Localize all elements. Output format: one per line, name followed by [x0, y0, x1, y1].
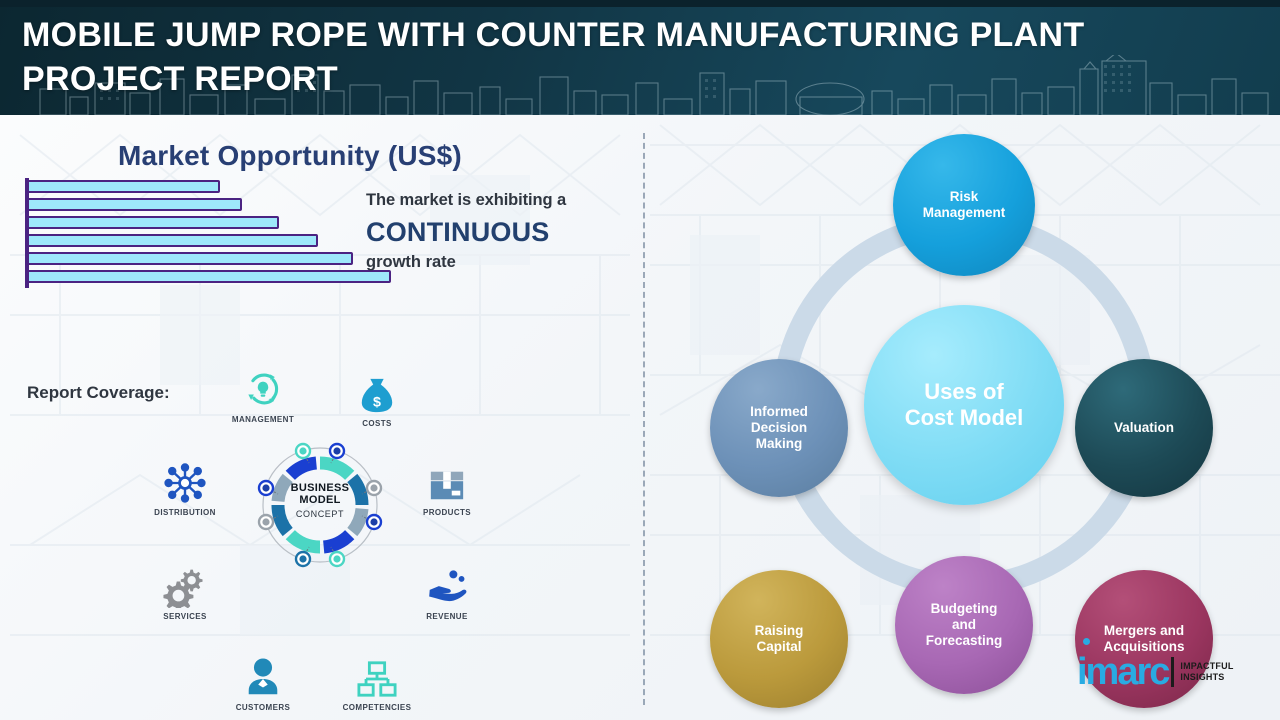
org-chart-icon — [327, 653, 427, 699]
left-panel: Market Opportunity (US$) The market is e… — [0, 115, 643, 720]
logo-dot-icon — [1083, 638, 1090, 645]
page-title: MOBILE JUMP ROPE WITH COUNTER MANUFACTUR… — [22, 14, 1142, 101]
svg-text:$: $ — [373, 394, 381, 410]
node-label-budgeting-forecasting: BudgetingandForecasting — [920, 601, 1009, 650]
recycle-bulb-icon — [213, 365, 313, 411]
bar-row — [27, 216, 279, 229]
logo-tagline-line-2: INSIGHTS — [1180, 672, 1233, 683]
bar-row — [27, 198, 242, 211]
bm-title-line-1: BUSINESS — [255, 482, 385, 494]
node-label-risk-management: RiskManagement — [917, 189, 1012, 221]
coverage-item-distribution[interactable]: DISTRIBUTION — [135, 458, 235, 517]
caption-line-3: growth rate — [366, 252, 641, 273]
market-opportunity-title: Market Opportunity (US$) — [118, 140, 462, 172]
node-label-informed-decision-making: InformedDecisionMaking — [744, 404, 814, 453]
coverage-label: COSTS — [327, 419, 427, 428]
center-node-uses-of-cost-model[interactable]: Uses of Cost Model — [864, 305, 1064, 505]
node-raising-capital[interactable]: RaisingCapital — [710, 570, 848, 708]
coverage-item-revenue[interactable]: REVENUE — [397, 562, 497, 621]
node-label-raising-capital: RaisingCapital — [749, 623, 810, 655]
center-line-2: Cost Model — [899, 405, 1030, 431]
bar-row — [27, 270, 391, 283]
money-bag-icon: $ — [327, 369, 427, 415]
coverage-label: SERVICES — [135, 612, 235, 621]
bar-row — [27, 234, 318, 247]
imarc-logo: imarc IMPACTFUL INSIGHTS — [1077, 648, 1267, 696]
node-informed-decision-making[interactable]: InformedDecisionMaking — [710, 359, 848, 497]
coverage-item-costs[interactable]: $ COSTS — [327, 369, 427, 428]
logo-tagline-line-1: IMPACTFUL — [1180, 661, 1233, 672]
report-coverage-diagram: MANAGEMENT $ COSTS — [120, 365, 520, 705]
network-nodes-icon — [135, 458, 235, 504]
coverage-label: CUSTOMERS — [213, 703, 313, 712]
node-budgeting-forecasting[interactable]: BudgetingandForecasting — [895, 556, 1033, 694]
business-model-label: BUSINESS MODEL CONCEPT — [255, 482, 385, 519]
bar-row — [27, 252, 353, 265]
uses-of-cost-model-diagram: Uses of Cost Model RiskManagement Valuat… — [643, 115, 1280, 720]
logo-tagline: IMPACTFUL INSIGHTS — [1180, 661, 1233, 684]
node-label-valuation: Valuation — [1108, 420, 1180, 436]
coverage-item-customers[interactable]: CUSTOMERS — [213, 653, 313, 712]
coverage-item-services[interactable]: SERVICES — [135, 562, 235, 621]
box-package-icon — [397, 458, 497, 504]
growth-caption: The market is exhibiting a CONTINUOUS gr… — [366, 190, 641, 273]
coverage-label: DISTRIBUTION — [135, 508, 235, 517]
market-opportunity-bar-chart — [25, 178, 425, 288]
logo-separator — [1171, 657, 1174, 687]
gears-icon — [135, 562, 235, 608]
coverage-item-competencies[interactable]: COMPETENCIES — [327, 653, 427, 712]
coverage-item-products[interactable]: PRODUCTS — [397, 458, 497, 517]
coverage-label: MANAGEMENT — [213, 415, 313, 424]
bm-title-line-2: MODEL — [255, 494, 385, 506]
coverage-label: COMPETENCIES — [327, 703, 427, 712]
coverage-item-management[interactable]: MANAGEMENT — [213, 365, 313, 424]
bar-row — [27, 180, 220, 193]
node-valuation[interactable]: Valuation — [1075, 359, 1213, 497]
caption-highlight: CONTINUOUS — [366, 214, 641, 250]
center-line-1: Uses of — [899, 379, 1030, 405]
coverage-label: REVENUE — [397, 612, 497, 621]
slide-body: Market Opportunity (US$) The market is e… — [0, 115, 1280, 720]
header-banner: MOBILE JUMP ROPE WITH COUNTER MANUFACTUR… — [0, 0, 1280, 115]
logo-wordmark: imarc — [1077, 653, 1168, 691]
right-panel: Uses of Cost Model RiskManagement Valuat… — [643, 115, 1280, 720]
coverage-label: PRODUCTS — [397, 508, 497, 517]
node-risk-management[interactable]: RiskManagement — [893, 134, 1035, 276]
bm-subtitle: CONCEPT — [255, 509, 385, 519]
hand-coins-icon — [397, 562, 497, 608]
caption-line-1: The market is exhibiting a — [366, 190, 641, 211]
header-top-strip — [0, 0, 1280, 7]
business-model-donut: BUSINESS MODEL CONCEPT — [255, 440, 385, 570]
user-person-icon — [213, 653, 313, 699]
